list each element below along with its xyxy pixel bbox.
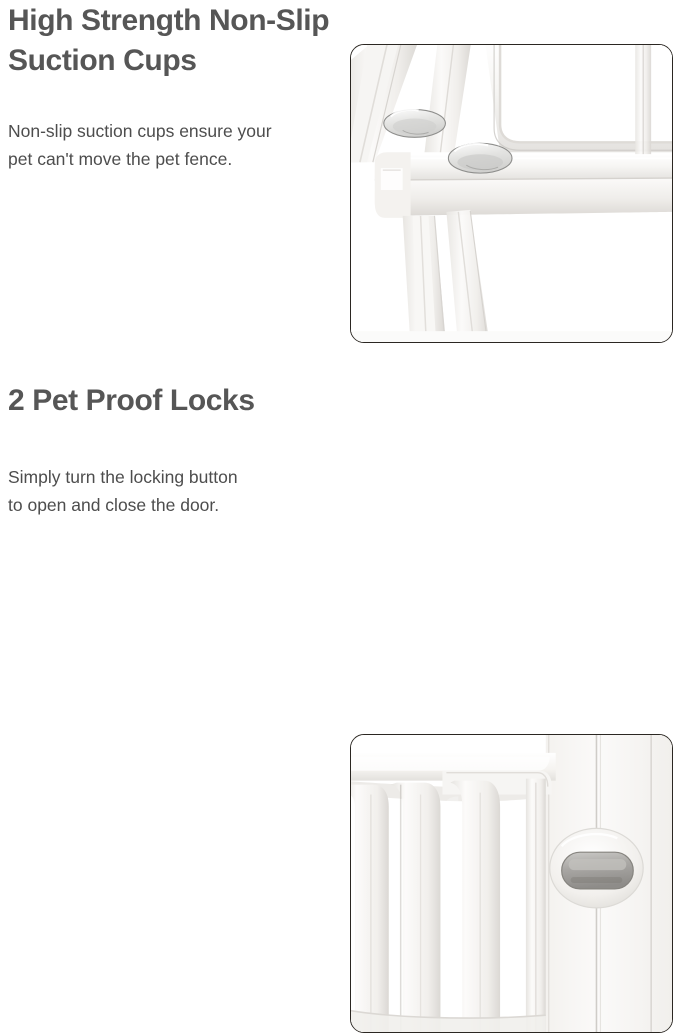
feature-section-suction-cups: High Strength Non-Slip Suction Cups Non-… <box>0 0 679 360</box>
product-photo-lock-button <box>350 734 673 1033</box>
feature-body-suction-cups: Non-slip suction cups ensure your pet ca… <box>8 81 338 174</box>
suction-cup-illustration <box>351 45 672 342</box>
product-photo-suction-cups <box>350 44 673 343</box>
lock-button-illustration <box>351 735 672 1032</box>
feature-heading-pet-proof-locks: 2 Pet Proof Locks <box>8 360 338 421</box>
feature-section-pet-proof-locks: 2 Pet Proof Locks Simply turn the lockin… <box>0 360 679 683</box>
product-infographic: High Strength Non-Slip Suction Cups Non-… <box>0 0 679 683</box>
feature-body-pet-proof-locks: Simply turn the locking button to open a… <box>8 421 338 520</box>
feature-text-column: High Strength Non-Slip Suction Cups Non-… <box>8 0 338 173</box>
feature-heading-suction-cups: High Strength Non-Slip Suction Cups <box>8 0 338 81</box>
feature-text-column: 2 Pet Proof Locks Simply turn the lockin… <box>8 360 338 520</box>
